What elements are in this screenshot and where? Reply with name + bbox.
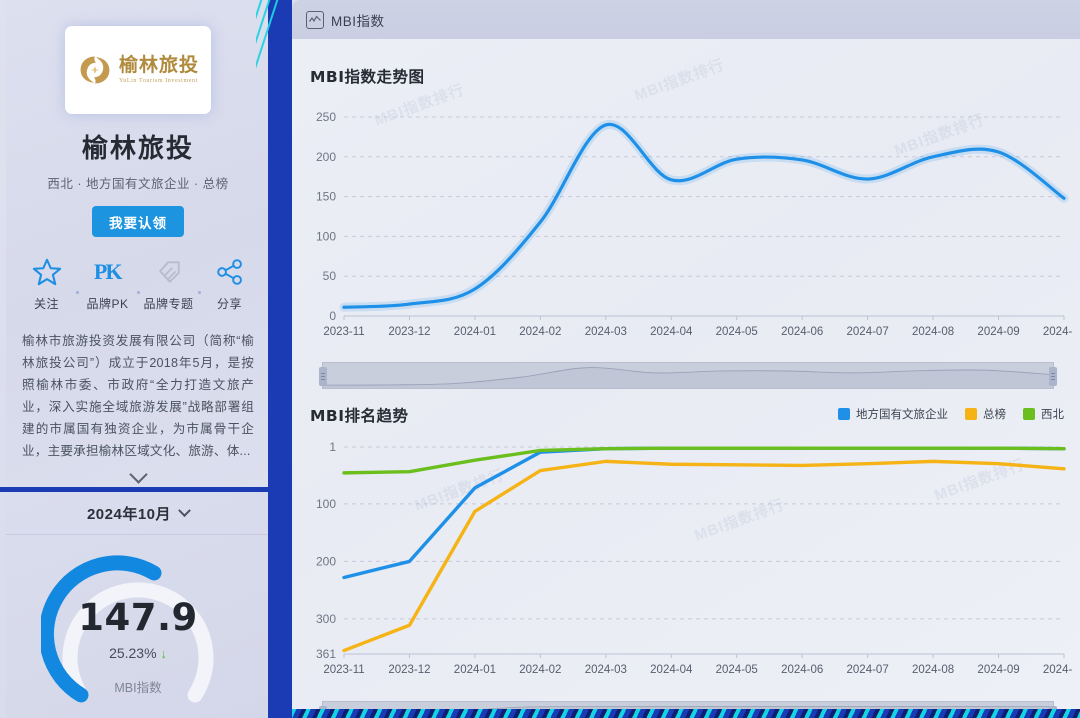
svg-text:2024-04: 2024-04 bbox=[650, 326, 693, 338]
datazoom-handle-right[interactable] bbox=[1049, 367, 1057, 386]
legend-item-overall[interactable]: 总榜 bbox=[965, 406, 1006, 422]
svg-text:2024-06: 2024-06 bbox=[781, 326, 823, 338]
brand-logo: 榆林旅投 YuLin Tourism Investment bbox=[65, 26, 211, 114]
svg-text:2024-08: 2024-08 bbox=[912, 664, 954, 676]
svg-text:0: 0 bbox=[329, 309, 336, 323]
svg-text:2024-02: 2024-02 bbox=[519, 326, 561, 338]
datazoom-preview-trend bbox=[323, 363, 1053, 388]
svg-text:2024-05: 2024-05 bbox=[716, 326, 758, 338]
svg-text:2024-06: 2024-06 bbox=[781, 664, 823, 676]
claim-button[interactable]: 我要认领 bbox=[92, 206, 184, 237]
action-brand-pk-label: 品牌PK bbox=[86, 295, 128, 312]
main-panel: MBI指数 MBI指数排行 MBI指数排行 MBI指数排行 MBI指数排行 MB… bbox=[292, 0, 1080, 718]
logo-wordmark: 榆林旅投 YuLin Tourism Investment bbox=[119, 56, 199, 84]
gauge-delta-arrow-icon: ↓ bbox=[160, 646, 167, 661]
line-chart-icon bbox=[306, 11, 324, 29]
legend-item-local-soe[interactable]: 地方国有文旅企业 bbox=[838, 406, 948, 422]
sidebar: 榆林旅投 YuLin Tourism Investment 榆林旅投 西北 · … bbox=[0, 0, 270, 718]
svg-text:2024-03: 2024-03 bbox=[585, 664, 627, 676]
chart-title-mbi-trend: MBI指数走势图 bbox=[310, 65, 425, 87]
chevron-down-icon bbox=[129, 465, 147, 483]
svg-text:K: K bbox=[105, 259, 122, 284]
legend-label: 地方国有文旅企业 bbox=[856, 406, 948, 422]
legend-label: 西北 bbox=[1041, 406, 1064, 422]
action-follow-label: 关注 bbox=[34, 295, 59, 312]
month-selector-label: 2024年10月 bbox=[87, 503, 171, 524]
svg-text:2024-10: 2024-10 bbox=[1043, 326, 1072, 338]
legend-swatch bbox=[838, 408, 850, 420]
svg-text:50: 50 bbox=[323, 269, 337, 283]
brand-subtitle: 西北 · 地方国有文旅企业 · 总榜 bbox=[6, 173, 270, 192]
svg-text:361: 361 bbox=[316, 647, 336, 661]
tab-mbi-index[interactable]: MBI指数 bbox=[306, 10, 385, 30]
svg-text:200: 200 bbox=[316, 554, 336, 568]
svg-text:200: 200 bbox=[316, 150, 336, 164]
action-brand-topic[interactable]: 品牌专题 bbox=[140, 255, 198, 312]
svg-text:2024-04: 2024-04 bbox=[650, 664, 693, 676]
chevron-down-icon bbox=[178, 504, 191, 517]
datazoom-preview-rank bbox=[323, 702, 1053, 709]
share-icon bbox=[215, 255, 245, 289]
chart-title-mbi-rank: MBI排名趋势 bbox=[310, 404, 409, 426]
mbi-gauge-panel: 2024年10月 147.9 25.23% ↓ MBI指数 bbox=[6, 492, 270, 718]
mbi-gauge: 147.9 25.23% ↓ MBI指数 bbox=[41, 541, 235, 717]
svg-text:2024-05: 2024-05 bbox=[716, 664, 758, 676]
svg-text:2024-10: 2024-10 bbox=[1043, 664, 1072, 676]
brand-description: 榆林市旅游投资发展有限公司（简称“榆林旅投公司”）成立于2018年5月，是按照榆… bbox=[22, 330, 254, 462]
svg-text:2024-09: 2024-09 bbox=[977, 664, 1019, 676]
gauge-value: 147.9 bbox=[41, 596, 235, 639]
legend-swatch bbox=[1023, 408, 1035, 420]
panel-body: MBI指数排行 MBI指数排行 MBI指数排行 MBI指数排行 MBI指数排行 … bbox=[292, 39, 1080, 709]
logo-chinese-text: 榆林旅投 bbox=[119, 56, 199, 76]
sidebar-divider bbox=[0, 487, 292, 492]
action-brand-topic-label: 品牌专题 bbox=[143, 295, 193, 312]
month-selector[interactable]: 2024年10月 bbox=[6, 492, 270, 535]
chart-legend: 地方国有文旅企业 总榜 西北 bbox=[838, 406, 1064, 422]
logo-emblem-icon bbox=[77, 52, 113, 88]
svg-text:2023-12: 2023-12 bbox=[388, 664, 430, 676]
svg-text:100: 100 bbox=[316, 497, 336, 511]
chart-mbi-rank[interactable]: 11002003003612023-112023-122024-012024-0… bbox=[300, 439, 1072, 684]
svg-text:2023-12: 2023-12 bbox=[388, 326, 430, 338]
app-root: 榆林旅投 YuLin Tourism Investment 榆林旅投 西北 · … bbox=[0, 0, 1080, 718]
action-share-label: 分享 bbox=[217, 295, 242, 312]
datazoom-handle-left[interactable] bbox=[319, 367, 327, 386]
action-follow[interactable]: 关注 bbox=[18, 255, 76, 312]
expand-description-button[interactable] bbox=[6, 468, 270, 486]
action-row: 关注 P K 品牌PK bbox=[6, 255, 270, 312]
brand-topic-icon bbox=[154, 255, 184, 289]
gauge-delta: 25.23% ↓ bbox=[41, 645, 235, 661]
chart-mbi-trend[interactable]: 0501001502002502023-112023-122024-012024… bbox=[300, 101, 1072, 346]
pk-icon: P K bbox=[93, 255, 123, 289]
svg-text:100: 100 bbox=[316, 229, 336, 243]
star-icon bbox=[32, 255, 62, 289]
watermark: MBI指数排行 bbox=[631, 53, 727, 105]
svg-text:150: 150 bbox=[316, 190, 336, 204]
action-brand-pk[interactable]: P K 品牌PK bbox=[79, 255, 137, 312]
svg-text:2024-07: 2024-07 bbox=[847, 664, 889, 676]
gauge-caption: MBI指数 bbox=[41, 677, 235, 696]
tab-mbi-index-label: MBI指数 bbox=[331, 10, 385, 30]
gauge-delta-value: 25.23% bbox=[109, 645, 156, 661]
action-share[interactable]: 分享 bbox=[201, 255, 259, 312]
legend-item-northwest[interactable]: 西北 bbox=[1023, 406, 1064, 422]
brand-title: 榆林旅投 bbox=[6, 128, 270, 165]
brand-profile-card: 榆林旅投 YuLin Tourism Investment 榆林旅投 西北 · … bbox=[6, 0, 270, 487]
datazoom-slider-trend[interactable] bbox=[322, 362, 1054, 389]
corner-accent-top bbox=[256, 0, 276, 18]
svg-text:2024-08: 2024-08 bbox=[912, 326, 954, 338]
datazoom-slider-rank[interactable] bbox=[322, 701, 1054, 709]
svg-text:2024-03: 2024-03 bbox=[585, 326, 627, 338]
svg-text:2024-07: 2024-07 bbox=[847, 326, 889, 338]
svg-text:1: 1 bbox=[329, 440, 336, 454]
tab-bar: MBI指数 bbox=[292, 0, 1080, 39]
legend-swatch bbox=[965, 408, 977, 420]
svg-text:2023-11: 2023-11 bbox=[323, 326, 364, 338]
svg-text:2024-01: 2024-01 bbox=[454, 664, 496, 676]
decorative-bottom-stripes bbox=[292, 709, 1080, 718]
svg-text:2024-02: 2024-02 bbox=[519, 664, 561, 676]
svg-text:250: 250 bbox=[316, 110, 336, 124]
legend-label: 总榜 bbox=[983, 406, 1006, 422]
decorative-cyan-lines bbox=[256, 0, 296, 240]
svg-text:2023-11: 2023-11 bbox=[323, 664, 364, 676]
svg-text:300: 300 bbox=[316, 612, 336, 626]
svg-text:2024-09: 2024-09 bbox=[977, 326, 1019, 338]
logo-english-text: YuLin Tourism Investment bbox=[119, 78, 198, 84]
svg-text:2024-01: 2024-01 bbox=[454, 326, 496, 338]
